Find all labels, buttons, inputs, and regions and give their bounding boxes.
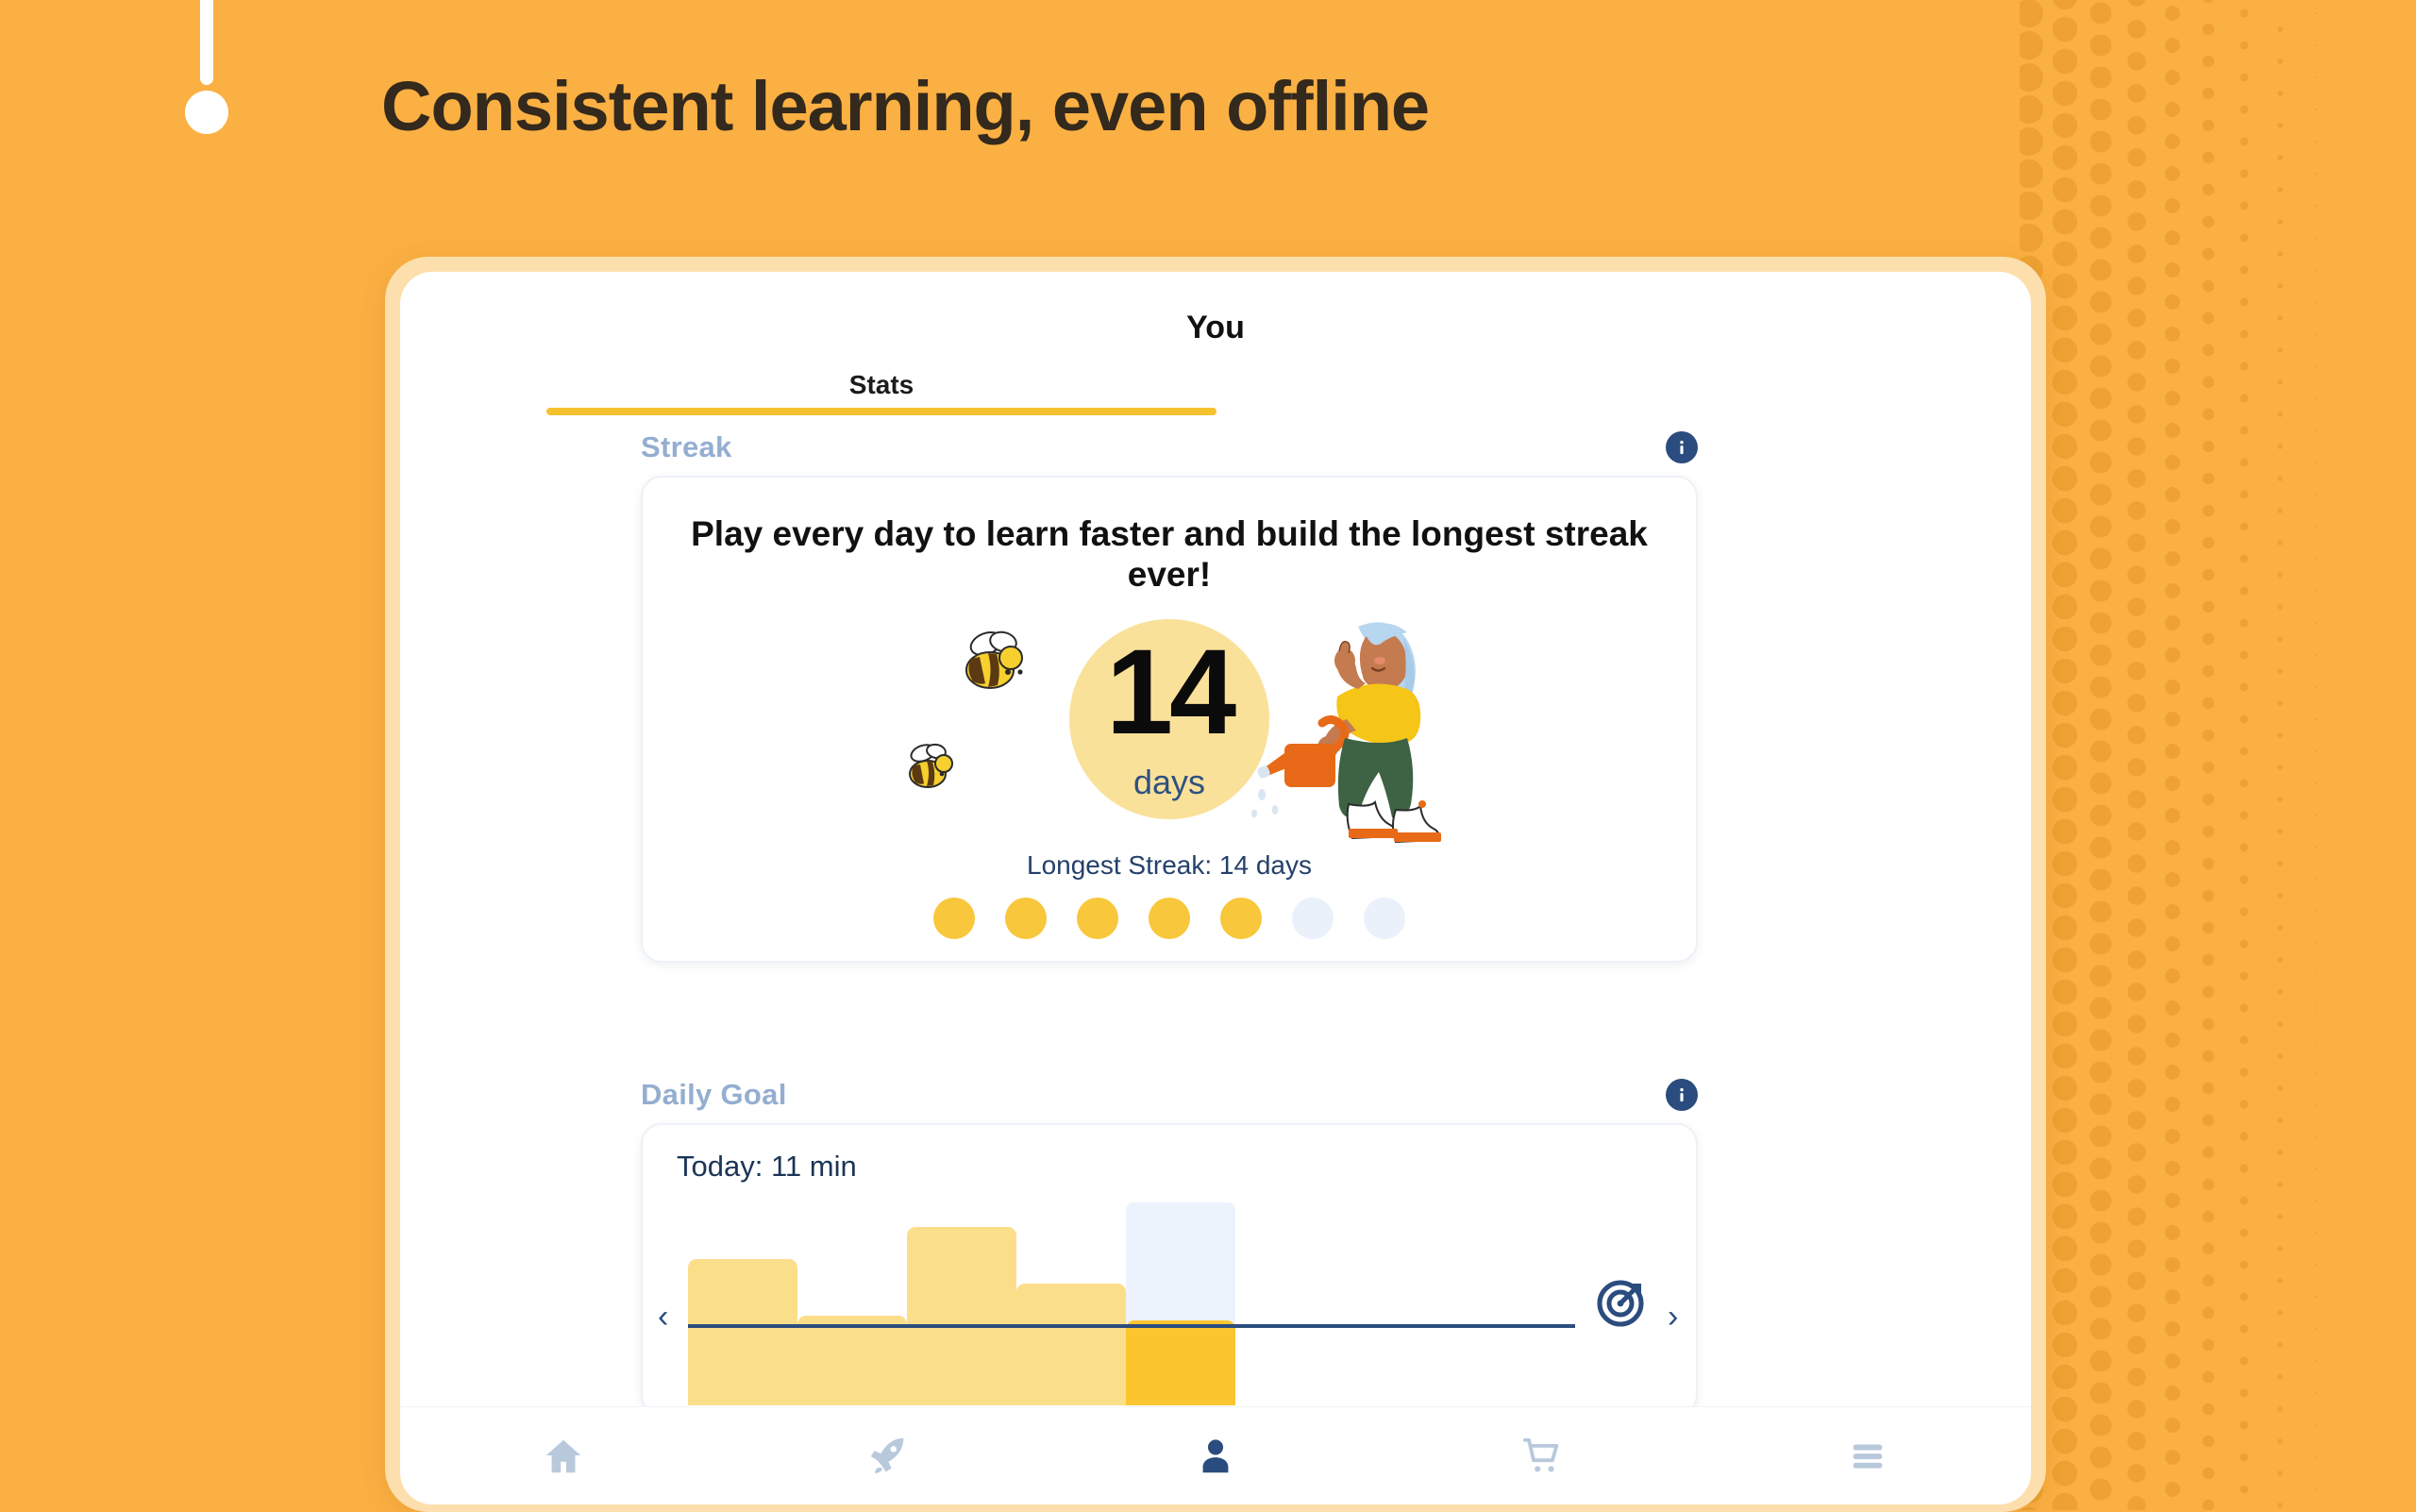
- rocket-icon: [867, 1435, 911, 1478]
- streak-headline: Play every day to learn faster and build…: [680, 513, 1658, 596]
- chart-bar[interactable]: [1126, 1202, 1235, 1405]
- chart-bar[interactable]: [1016, 1202, 1126, 1405]
- info-icon[interactable]: [1666, 1079, 1698, 1111]
- streak-card: Play every day to learn faster and build…: [641, 476, 1698, 963]
- target-icon[interactable]: [1596, 1276, 1647, 1327]
- daily-goal-card: Today: 11 min ‹ ›: [641, 1123, 1698, 1416]
- streak-count: 14: [643, 632, 1696, 753]
- chart-bar[interactable]: [797, 1202, 907, 1405]
- chart-bar[interactable]: [907, 1202, 1016, 1405]
- streak-day-dot: [1005, 898, 1047, 939]
- goal-line: [688, 1324, 1575, 1328]
- nav-item-cart[interactable]: [1379, 1435, 1705, 1478]
- streak-section-header: Streak: [641, 430, 1698, 464]
- bar-value: [907, 1227, 1016, 1405]
- pin-stem: [200, 0, 213, 85]
- app-title: You: [400, 310, 2031, 346]
- tab-bar: Stats: [400, 370, 2031, 408]
- chart-bars: [688, 1202, 1235, 1405]
- streak-day-dot: [1149, 898, 1190, 939]
- device-frame: You Stats Streak Play every day to learn…: [385, 257, 2046, 1512]
- streak-unit: days: [643, 763, 1696, 802]
- pin-ball-icon: [185, 91, 228, 134]
- gardener-watering-illustration: [1247, 610, 1454, 846]
- nav-item-menu[interactable]: [1704, 1435, 2031, 1478]
- bar-value: [688, 1259, 797, 1405]
- daily-goal-chart: ‹ ›: [643, 1202, 1696, 1405]
- streak-day-dot: [1364, 898, 1405, 939]
- streak-day-dot: [933, 898, 975, 939]
- nav-item-rocket[interactable]: [727, 1435, 1053, 1478]
- info-icon[interactable]: [1666, 431, 1698, 463]
- streak-title: Streak: [641, 430, 732, 464]
- chart-prev-button[interactable]: ‹: [658, 1301, 668, 1333]
- today-minutes-label: Today: 11 min: [677, 1150, 857, 1184]
- daily-goal-title: Daily Goal: [641, 1078, 787, 1112]
- bottom-navigation: [400, 1406, 2031, 1504]
- bee-icon: [902, 740, 965, 793]
- nav-item-profile[interactable]: [1052, 1435, 1379, 1478]
- streak-day-dot: [1220, 898, 1262, 939]
- bar-value: [797, 1316, 907, 1405]
- chart-bar[interactable]: [688, 1202, 797, 1405]
- streak-day-dot: [1077, 898, 1118, 939]
- daily-goal-section-header: Daily Goal: [641, 1078, 1698, 1112]
- tab-active-underline: [546, 408, 1216, 415]
- tab-stats[interactable]: Stats: [546, 370, 1216, 400]
- home-icon: [542, 1435, 585, 1478]
- streak-day-dot: [1292, 898, 1334, 939]
- cart-icon: [1520, 1435, 1564, 1478]
- bar-value: [1016, 1284, 1126, 1405]
- bar-value: [1126, 1320, 1235, 1405]
- person-icon: [1194, 1435, 1237, 1478]
- halftone-dot-pattern: [2020, 0, 2416, 1510]
- longest-streak-label: Longest Streak: 14 days: [643, 850, 1696, 881]
- menu-icon: [1846, 1435, 1889, 1478]
- device-screen: You Stats Streak Play every day to learn…: [400, 272, 2031, 1504]
- streak-week-dots: [643, 898, 1696, 939]
- chart-next-button[interactable]: ›: [1668, 1301, 1678, 1333]
- streak-illustration-stage: 14 days: [643, 619, 1696, 836]
- bee-icon: [954, 629, 1035, 697]
- nav-item-home[interactable]: [400, 1435, 727, 1478]
- page-title: Consistent learning, even offline: [381, 66, 1429, 146]
